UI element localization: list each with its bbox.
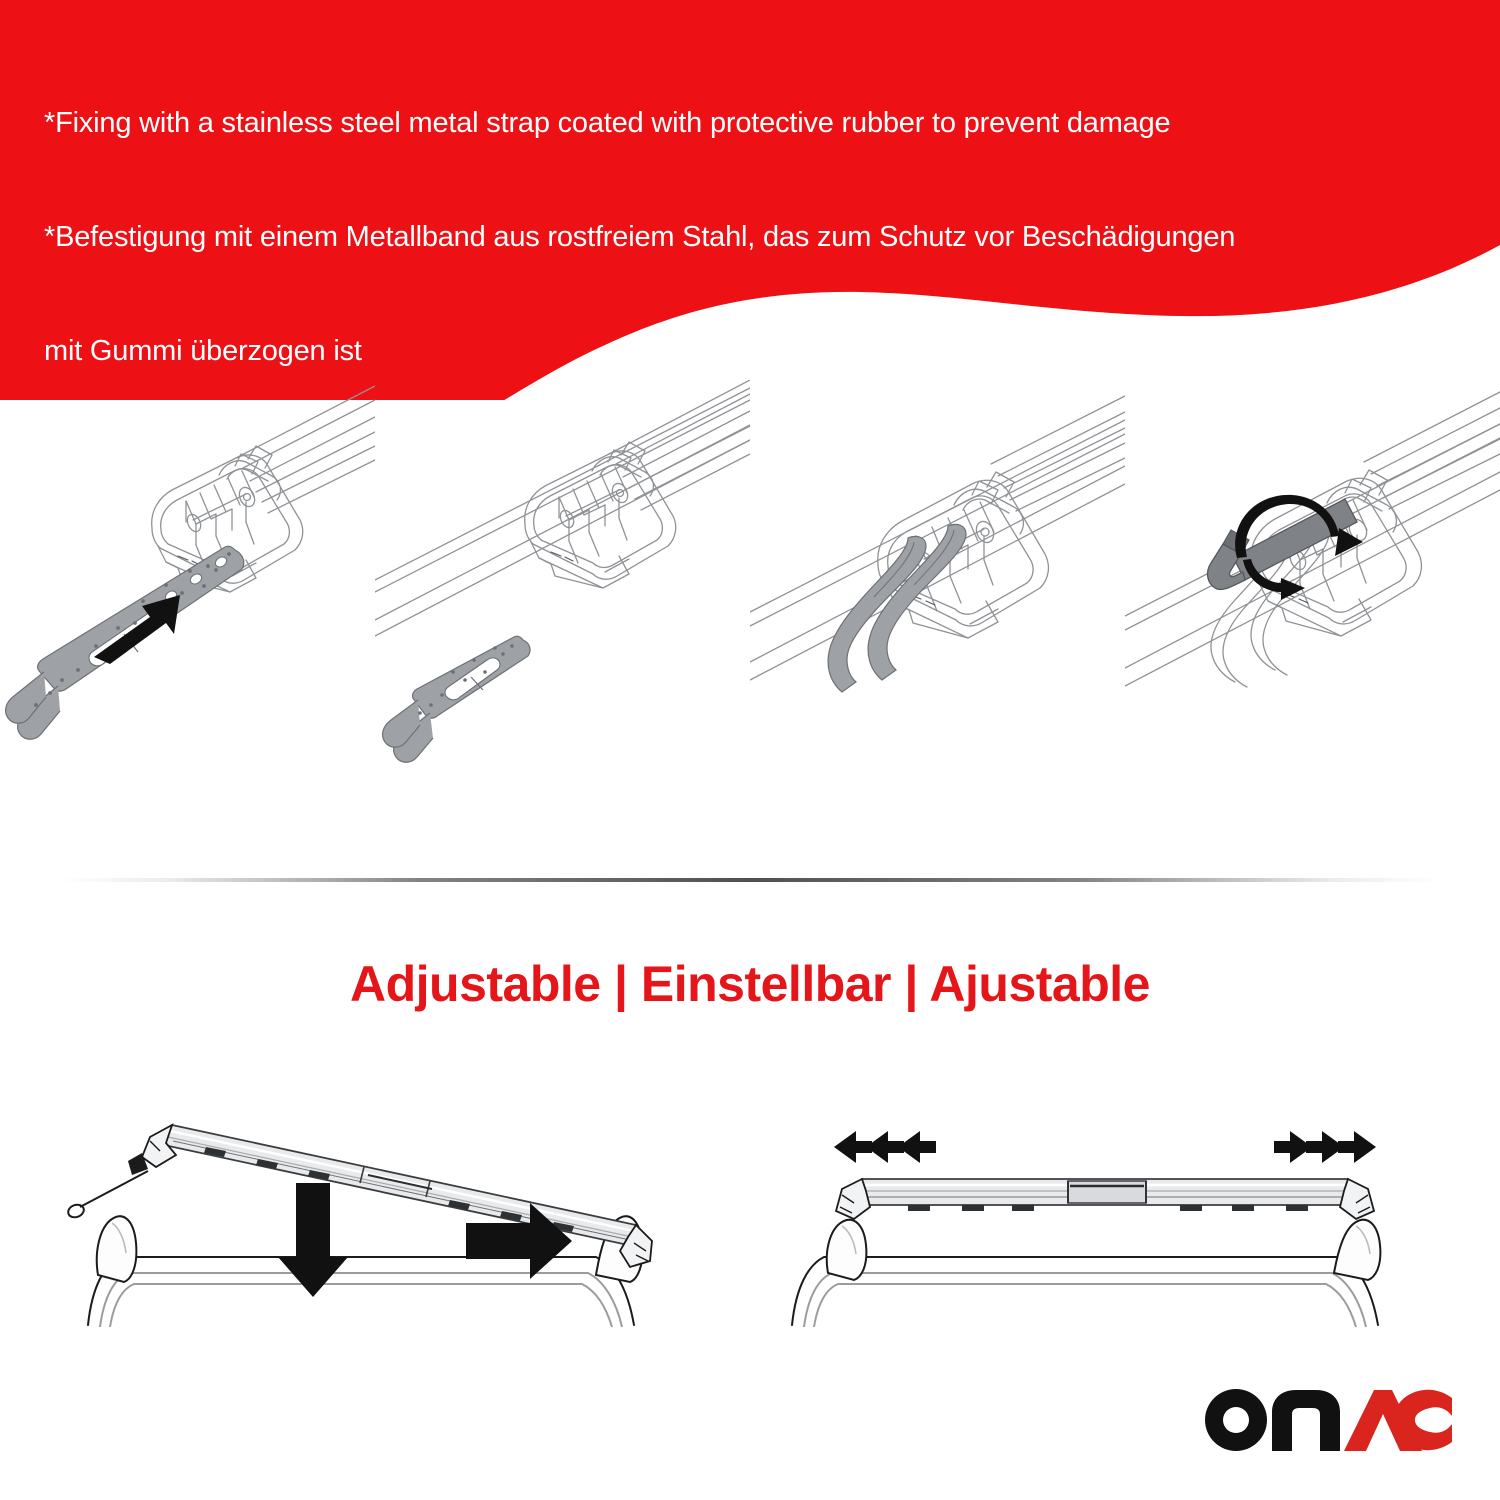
- logo-letter-m: [1272, 1390, 1340, 1451]
- adjustable-headline: Adjustable | Einstellbar | Ajustable: [0, 955, 1500, 1013]
- logo-letter-o: [1205, 1389, 1267, 1451]
- roof-rail-right-adjust: [1334, 1220, 1380, 1280]
- bottom-diagrams-row: [0, 1075, 1500, 1405]
- step-panel-3: [750, 380, 1125, 880]
- crossbar-profile-1: [236, 386, 375, 513]
- step-panel-2: [375, 380, 750, 880]
- omac-logo: [1202, 1384, 1452, 1456]
- installation-steps-strip: [0, 380, 1500, 880]
- roof-rack-foot-2: [525, 442, 676, 588]
- header-line-de-1: *Befestigung mit einem Metallband aus ro…: [44, 218, 1444, 256]
- metal-strap-2: [383, 636, 530, 762]
- section-divider: [60, 878, 1440, 882]
- header-line-en: *Fixing with a stainless steel metal str…: [44, 104, 1444, 142]
- crossbar-assembly-adjust: [836, 1179, 1374, 1219]
- header-line-de-2: mit Gummi überzogen ist: [44, 332, 1444, 370]
- roof-rail-left-adjust: [827, 1220, 867, 1280]
- crossbar-profile-3: [991, 396, 1125, 511]
- triple-arrow-right-adjust: [1274, 1131, 1376, 1163]
- crossbar-profile-4: [1364, 392, 1500, 509]
- wrapped-strap-3: [828, 524, 966, 692]
- bottom-panel-width-adjust: [750, 1075, 1500, 1405]
- triple-arrow-left-adjust: [834, 1131, 936, 1163]
- arrow-down-mount: [278, 1183, 348, 1297]
- step-panel-1: [0, 380, 375, 880]
- roof-rail-4: [1125, 424, 1500, 686]
- step-panel-4: [1125, 380, 1500, 880]
- roof-rail-left-mount: [97, 1216, 137, 1282]
- bottom-panel-mount: [0, 1075, 750, 1405]
